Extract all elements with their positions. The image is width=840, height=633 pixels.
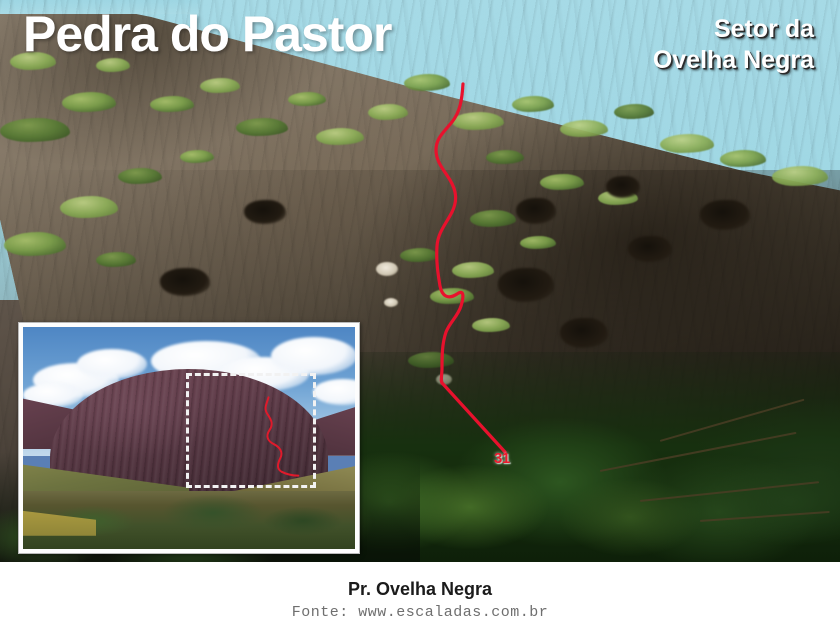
rock-pocket [700,200,750,230]
vegetation-patch [614,104,654,119]
detail-area-dashed-rectangle [186,373,316,488]
vegetation-patch [316,128,364,145]
vegetation-patch [772,166,828,186]
rock-pocket [498,268,554,302]
vegetation-patch [288,92,326,106]
vegetation-patch [62,92,116,112]
caption-area: Pr. Ovelha Negra Fonte: www.escaladas.co… [0,562,840,633]
sector-title-line2: Ovelha Negra [653,45,814,76]
vegetation-patch [368,104,408,120]
vegetation-patch [660,134,714,153]
rock-light-spot [384,298,398,307]
vegetation-patch [520,236,556,249]
rock-pocket [628,236,672,262]
vegetation-patch [4,232,66,256]
cloud [271,337,355,375]
vegetation-patch [404,74,450,91]
rock-light-spot [376,262,398,276]
vegetation-patch [118,168,162,184]
overview-inset-photo[interactable] [18,322,360,554]
vegetation-patch [452,262,494,278]
inset-photo-content [23,327,355,549]
caption-source: Fonte: www.escaladas.com.br [0,604,840,621]
sector-title: Setor da Ovelha Negra [653,14,814,77]
vegetation-patch [486,150,524,164]
vegetation-patch [540,174,584,190]
vegetation-patch [0,118,70,142]
vegetation-patch [200,78,240,93]
rock-pocket [606,176,640,198]
rock-pocket [160,268,210,296]
vegetation-patch [150,96,194,112]
vegetation-patch [512,96,554,112]
vegetation-patch [452,112,504,130]
vegetation-patch [560,120,608,137]
vegetation-patch [96,252,136,267]
page-title: Pedra do Pastor [23,8,391,61]
vegetation-patch [400,248,438,262]
rock-pocket [244,200,286,224]
vegetation-patch [430,288,474,304]
vegetation-patch [720,150,766,167]
vegetation-patch [180,150,214,163]
main-crag-photo: 31 Pedra do Pastor Setor da Ovelha Negra [0,0,840,562]
rock-pocket [516,198,556,224]
vegetation-patch [60,196,118,218]
sector-title-line1: Setor da [653,14,814,45]
route-number-label: 31 [494,450,510,467]
rock-pocket [560,318,608,348]
vegetation-patch [470,210,516,227]
vegetation-patch [472,318,510,332]
caption-title: Pr. Ovelha Negra [0,579,840,600]
vegetation-patch [236,118,288,136]
